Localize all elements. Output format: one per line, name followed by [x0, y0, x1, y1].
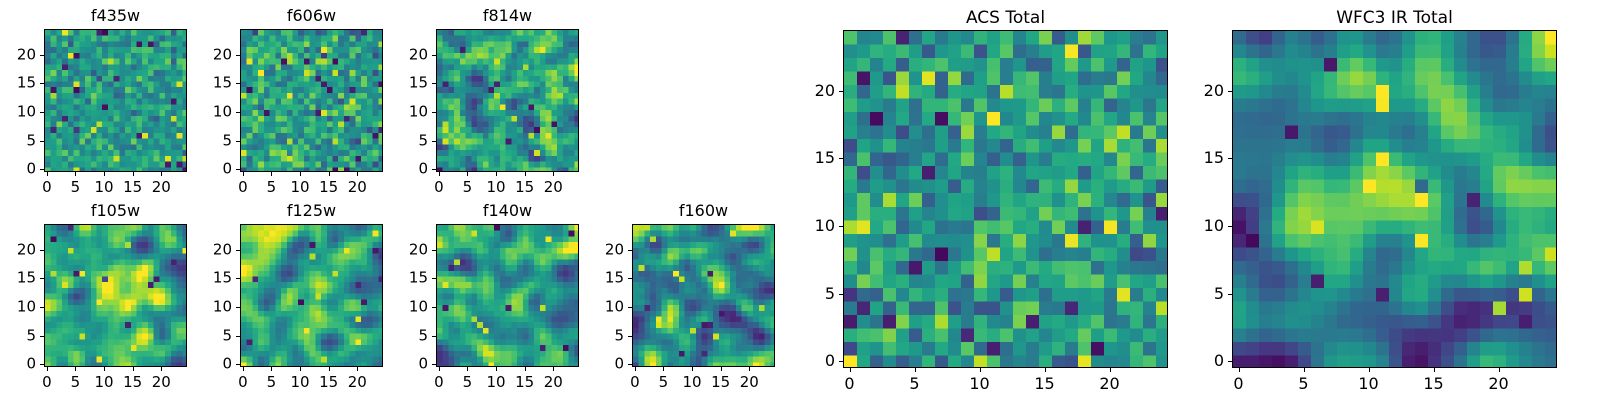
ytick-wfc3-ir-total-0 — [1228, 361, 1232, 362]
ytick-acs-total-10 — [839, 226, 843, 227]
heatmap-acs-total — [844, 31, 1168, 368]
xtick-wfc3-ir-total-5 — [1304, 368, 1305, 372]
xticklabel-f105w-15: 15 — [123, 375, 142, 390]
xticklabel-f125w-15: 15 — [319, 375, 338, 390]
xticklabel-f435w-10: 10 — [95, 180, 114, 195]
panel-f125w: f125w0510152005101520 — [180, 198, 383, 397]
xtick-acs-total-0 — [850, 368, 851, 372]
axes-f606w — [240, 29, 383, 172]
panel-title-f125w: f125w — [240, 201, 383, 220]
ytick-f435w-0 — [40, 169, 44, 170]
heatmap-wfc3-ir-total — [1233, 31, 1557, 368]
ytick-f435w-15 — [40, 83, 44, 84]
ytick-f105w-20 — [40, 250, 44, 251]
xticklabel-f105w-20: 20 — [152, 375, 171, 390]
xticklabel-f160w-20: 20 — [740, 375, 759, 390]
xticklabel-f125w-10: 10 — [291, 375, 310, 390]
xticklabel-f606w-15: 15 — [319, 180, 338, 195]
xtick-f125w-0 — [243, 367, 244, 371]
panel-f814w: f814w0510152005101520 — [376, 3, 579, 202]
xtick-f140w-10 — [496, 367, 497, 371]
ytick-f814w-20 — [432, 55, 436, 56]
yticklabel-f160w-15: 15 — [572, 271, 624, 286]
yticklabel-f105w-10: 10 — [0, 299, 36, 314]
yticklabel-acs-total-15: 15 — [783, 150, 835, 166]
xtick-f140w-15 — [525, 367, 526, 371]
xticklabel-f160w-10: 10 — [683, 375, 702, 390]
xtick-f435w-10 — [104, 172, 105, 176]
ytick-f125w-15 — [236, 278, 240, 279]
ytick-f814w-5 — [432, 141, 436, 142]
yticklabel-f160w-0: 0 — [572, 357, 624, 372]
yticklabel-wfc3-ir-total-5: 5 — [1172, 286, 1224, 302]
xticklabel-f606w-0: 0 — [238, 180, 248, 195]
xticklabel-f606w-20: 20 — [348, 180, 367, 195]
panel-title-acs-total: ACS Total — [843, 8, 1168, 28]
heatmap-f105w — [45, 225, 187, 367]
xticklabel-f814w-20: 20 — [544, 180, 563, 195]
ytick-f606w-10 — [236, 112, 240, 113]
yticklabel-f160w-10: 10 — [572, 299, 624, 314]
xticklabel-acs-total-5: 5 — [909, 376, 919, 392]
xtick-f105w-15 — [133, 367, 134, 371]
ytick-f160w-10 — [628, 307, 632, 308]
yticklabel-wfc3-ir-total-20: 20 — [1172, 83, 1224, 99]
heatmap-f125w — [241, 225, 383, 367]
xticklabel-f814w-10: 10 — [487, 180, 506, 195]
ytick-f606w-5 — [236, 141, 240, 142]
xtick-f606w-10 — [300, 172, 301, 176]
ytick-f140w-10 — [432, 307, 436, 308]
ytick-wfc3-ir-total-5 — [1228, 294, 1232, 295]
yticklabel-acs-total-10: 10 — [783, 218, 835, 234]
xtick-f606w-20 — [357, 172, 358, 176]
xtick-acs-total-10 — [980, 368, 981, 372]
xtick-f160w-20 — [749, 367, 750, 371]
xtick-f435w-0 — [47, 172, 48, 176]
ytick-f105w-10 — [40, 307, 44, 308]
xticklabel-f140w-0: 0 — [434, 375, 444, 390]
heatmap-f814w — [437, 30, 579, 172]
xtick-f105w-10 — [104, 367, 105, 371]
yticklabel-f606w-5: 5 — [180, 133, 232, 148]
xtick-f814w-15 — [525, 172, 526, 176]
axes-f160w — [632, 224, 775, 367]
yticklabel-f814w-10: 10 — [376, 104, 428, 119]
yticklabel-f606w-10: 10 — [180, 104, 232, 119]
ytick-f105w-15 — [40, 278, 44, 279]
xticklabel-wfc3-ir-total-20: 20 — [1488, 376, 1508, 392]
xticklabel-acs-total-20: 20 — [1099, 376, 1119, 392]
xtick-f160w-15 — [721, 367, 722, 371]
ytick-f140w-0 — [432, 364, 436, 365]
panel-title-f606w: f606w — [240, 6, 383, 25]
xtick-f435w-20 — [161, 172, 162, 176]
xticklabel-f125w-0: 0 — [238, 375, 248, 390]
xticklabel-f140w-5: 5 — [463, 375, 473, 390]
panel-acs-total: ACS Total0510152005101520 — [783, 4, 1168, 398]
ytick-f814w-10 — [432, 112, 436, 113]
xtick-f435w-5 — [75, 172, 76, 176]
xticklabel-f125w-20: 20 — [348, 375, 367, 390]
ytick-f160w-15 — [628, 278, 632, 279]
yticklabel-f435w-5: 5 — [0, 133, 36, 148]
xticklabel-f140w-20: 20 — [544, 375, 563, 390]
ytick-f160w-0 — [628, 364, 632, 365]
heatmap-f606w — [241, 30, 383, 172]
ytick-acs-total-0 — [839, 361, 843, 362]
xtick-f435w-15 — [133, 172, 134, 176]
xticklabel-f606w-10: 10 — [291, 180, 310, 195]
ytick-f105w-0 — [40, 364, 44, 365]
yticklabel-f105w-0: 0 — [0, 357, 36, 372]
xticklabel-wfc3-ir-total-0: 0 — [1233, 376, 1243, 392]
yticklabel-wfc3-ir-total-15: 15 — [1172, 150, 1224, 166]
yticklabel-f125w-15: 15 — [180, 271, 232, 286]
ytick-acs-total-5 — [839, 294, 843, 295]
yticklabel-f140w-10: 10 — [376, 299, 428, 314]
xtick-f160w-5 — [663, 367, 664, 371]
xtick-f160w-10 — [692, 367, 693, 371]
ytick-f814w-0 — [432, 169, 436, 170]
xticklabel-f140w-15: 15 — [515, 375, 534, 390]
xtick-f105w-0 — [47, 367, 48, 371]
ytick-f125w-10 — [236, 307, 240, 308]
xtick-f814w-10 — [496, 172, 497, 176]
yticklabel-f105w-20: 20 — [0, 242, 36, 257]
xticklabel-wfc3-ir-total-5: 5 — [1298, 376, 1308, 392]
axes-wfc3-ir-total — [1232, 30, 1557, 368]
xtick-f140w-0 — [439, 367, 440, 371]
xtick-wfc3-ir-total-10 — [1369, 368, 1370, 372]
axes-f140w — [436, 224, 579, 367]
xticklabel-f435w-20: 20 — [152, 180, 171, 195]
yticklabel-f140w-0: 0 — [376, 357, 428, 372]
yticklabel-acs-total-0: 0 — [783, 353, 835, 369]
xtick-f105w-20 — [161, 367, 162, 371]
xtick-wfc3-ir-total-0 — [1239, 368, 1240, 372]
xtick-acs-total-20 — [1110, 368, 1111, 372]
heatmap-f160w — [633, 225, 775, 367]
axes-f125w — [240, 224, 383, 367]
panel-title-f435w: f435w — [44, 6, 187, 25]
xtick-f125w-15 — [329, 367, 330, 371]
ytick-f125w-5 — [236, 336, 240, 337]
xtick-f125w-5 — [271, 367, 272, 371]
axes-acs-total — [843, 30, 1168, 368]
yticklabel-f435w-15: 15 — [0, 76, 36, 91]
ytick-wfc3-ir-total-10 — [1228, 226, 1232, 227]
panel-f140w: f140w0510152005101520 — [376, 198, 579, 397]
xticklabel-f160w-15: 15 — [711, 375, 730, 390]
xtick-wfc3-ir-total-20 — [1499, 368, 1500, 372]
yticklabel-f606w-20: 20 — [180, 47, 232, 62]
yticklabel-f814w-5: 5 — [376, 133, 428, 148]
xtick-f606w-5 — [271, 172, 272, 176]
yticklabel-f606w-0: 0 — [180, 162, 232, 177]
panel-f435w: f435w0510152005101520 — [0, 3, 187, 202]
ytick-f140w-15 — [432, 278, 436, 279]
yticklabel-f814w-0: 0 — [376, 162, 428, 177]
yticklabel-wfc3-ir-total-10: 10 — [1172, 218, 1224, 234]
xticklabel-acs-total-10: 10 — [969, 376, 989, 392]
yticklabel-f435w-0: 0 — [0, 162, 36, 177]
ytick-f435w-5 — [40, 141, 44, 142]
panel-title-f814w: f814w — [436, 6, 579, 25]
yticklabel-f125w-0: 0 — [180, 357, 232, 372]
xtick-f814w-5 — [467, 172, 468, 176]
ytick-f125w-0 — [236, 364, 240, 365]
panel-title-f160w: f160w — [632, 201, 775, 220]
xticklabel-f814w-0: 0 — [434, 180, 444, 195]
ytick-f140w-20 — [432, 250, 436, 251]
xticklabel-f814w-5: 5 — [463, 180, 473, 195]
xtick-f606w-0 — [243, 172, 244, 176]
yticklabel-f125w-20: 20 — [180, 242, 232, 257]
ytick-f814w-15 — [432, 83, 436, 84]
axes-f105w — [44, 224, 187, 367]
panel-f105w: f105w0510152005101520 — [0, 198, 187, 397]
figure-canvas: f435w0510152005101520f606w05101520051015… — [0, 0, 1600, 400]
xtick-f606w-15 — [329, 172, 330, 176]
ytick-f606w-15 — [236, 83, 240, 84]
xticklabel-f140w-10: 10 — [487, 375, 506, 390]
xtick-f125w-20 — [357, 367, 358, 371]
ytick-wfc3-ir-total-20 — [1228, 91, 1232, 92]
panel-f160w: f160w0510152005101520 — [572, 198, 775, 397]
ytick-f105w-5 — [40, 336, 44, 337]
axes-f435w — [44, 29, 187, 172]
ytick-f160w-20 — [628, 250, 632, 251]
xtick-acs-total-5 — [915, 368, 916, 372]
xticklabel-f105w-10: 10 — [95, 375, 114, 390]
yticklabel-f140w-20: 20 — [376, 242, 428, 257]
xticklabel-f435w-5: 5 — [71, 180, 81, 195]
yticklabel-f160w-5: 5 — [572, 328, 624, 343]
xtick-f140w-20 — [553, 367, 554, 371]
axes-f814w — [436, 29, 579, 172]
yticklabel-f435w-10: 10 — [0, 104, 36, 119]
xticklabel-f435w-15: 15 — [123, 180, 142, 195]
xticklabel-f606w-5: 5 — [267, 180, 277, 195]
yticklabel-f140w-5: 5 — [376, 328, 428, 343]
ytick-acs-total-15 — [839, 158, 843, 159]
xticklabel-wfc3-ir-total-15: 15 — [1423, 376, 1443, 392]
yticklabel-f814w-15: 15 — [376, 76, 428, 91]
xtick-wfc3-ir-total-15 — [1434, 368, 1435, 372]
ytick-wfc3-ir-total-15 — [1228, 158, 1232, 159]
xticklabel-f105w-5: 5 — [71, 375, 81, 390]
xticklabel-acs-total-0: 0 — [844, 376, 854, 392]
yticklabel-acs-total-5: 5 — [783, 286, 835, 302]
yticklabel-f105w-5: 5 — [0, 328, 36, 343]
ytick-f125w-20 — [236, 250, 240, 251]
xtick-f140w-5 — [467, 367, 468, 371]
xticklabel-f125w-5: 5 — [267, 375, 277, 390]
ytick-f435w-20 — [40, 55, 44, 56]
ytick-f606w-0 — [236, 169, 240, 170]
xtick-f814w-20 — [553, 172, 554, 176]
xticklabel-f160w-5: 5 — [659, 375, 669, 390]
heatmap-f140w — [437, 225, 579, 367]
ytick-f160w-5 — [628, 336, 632, 337]
xticklabel-wfc3-ir-total-10: 10 — [1358, 376, 1378, 392]
panel-title-wfc3-ir-total: WFC3 IR Total — [1232, 8, 1557, 28]
yticklabel-f160w-20: 20 — [572, 242, 624, 257]
yticklabel-f435w-20: 20 — [0, 47, 36, 62]
xticklabel-f160w-0: 0 — [630, 375, 640, 390]
xtick-f160w-0 — [635, 367, 636, 371]
ytick-f606w-20 — [236, 55, 240, 56]
heatmap-f435w — [45, 30, 187, 172]
yticklabel-f814w-20: 20 — [376, 47, 428, 62]
ytick-f435w-10 — [40, 112, 44, 113]
panel-f606w: f606w0510152005101520 — [180, 3, 383, 202]
xticklabel-f435w-0: 0 — [42, 180, 52, 195]
xticklabel-acs-total-15: 15 — [1034, 376, 1054, 392]
ytick-acs-total-20 — [839, 91, 843, 92]
xtick-acs-total-15 — [1045, 368, 1046, 372]
yticklabel-f125w-5: 5 — [180, 328, 232, 343]
xtick-f814w-0 — [439, 172, 440, 176]
yticklabel-f140w-15: 15 — [376, 271, 428, 286]
xticklabel-f814w-15: 15 — [515, 180, 534, 195]
yticklabel-f105w-15: 15 — [0, 271, 36, 286]
yticklabel-wfc3-ir-total-0: 0 — [1172, 353, 1224, 369]
xtick-f125w-10 — [300, 367, 301, 371]
yticklabel-f606w-15: 15 — [180, 76, 232, 91]
panel-title-f140w: f140w — [436, 201, 579, 220]
xtick-f105w-5 — [75, 367, 76, 371]
ytick-f140w-5 — [432, 336, 436, 337]
xticklabel-f105w-0: 0 — [42, 375, 52, 390]
yticklabel-f125w-10: 10 — [180, 299, 232, 314]
panel-wfc3-ir-total: WFC3 IR Total0510152005101520 — [1172, 4, 1557, 398]
panel-title-f105w: f105w — [44, 201, 187, 220]
yticklabel-acs-total-20: 20 — [783, 83, 835, 99]
